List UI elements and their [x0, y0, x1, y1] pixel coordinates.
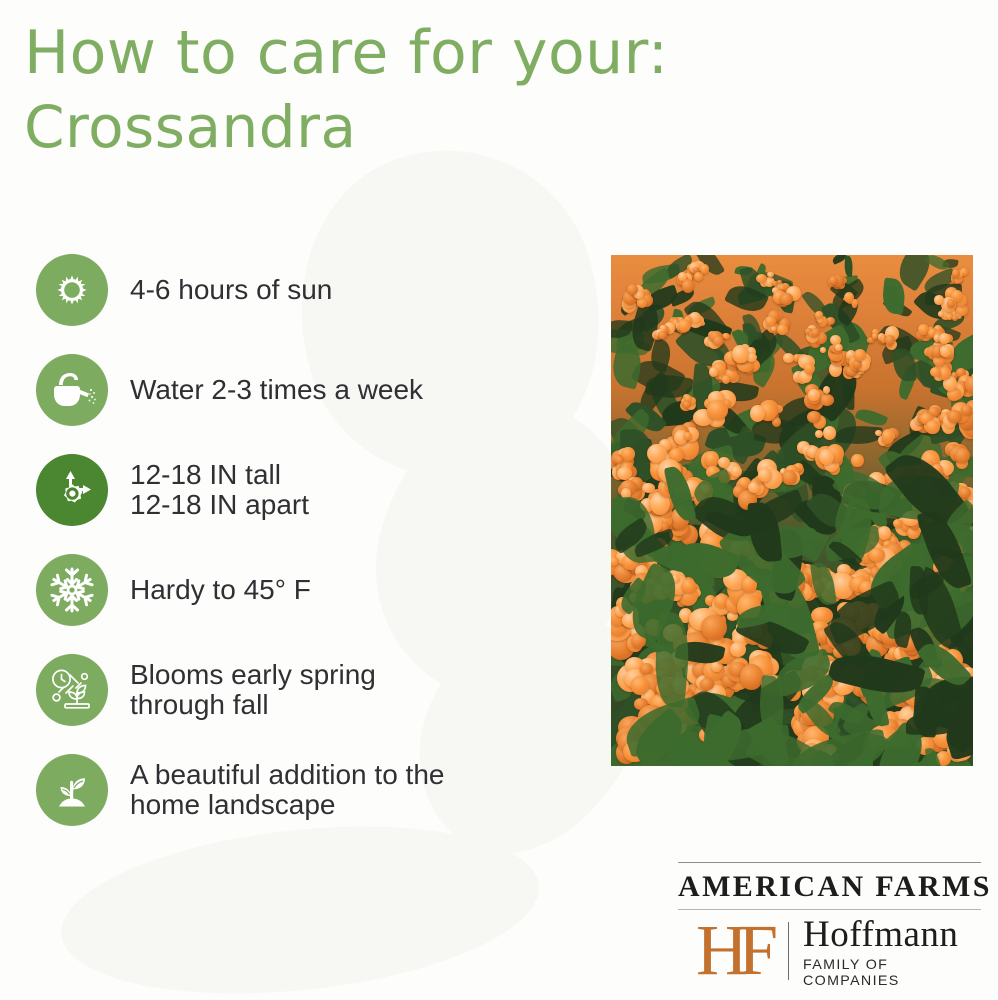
- logo-vertical-divider: [788, 922, 789, 980]
- bloom-clock-icon: [46, 664, 98, 716]
- sun-icon-badge: [36, 254, 108, 326]
- snowflake-icon: [47, 565, 97, 615]
- care-item-label: 12-18 IN tall 12-18 IN apart: [130, 460, 309, 520]
- care-item-spacing: 12-18 IN tall 12-18 IN apart: [36, 453, 576, 527]
- background-watermark-shape: [53, 805, 547, 1000]
- company-logo: AMERICAN FARMS HF Hoffmann FAMILY OF COM…: [678, 862, 981, 988]
- title-line-2: Crossandra: [24, 90, 844, 164]
- care-item-label: Blooms early spring through fall: [130, 660, 376, 720]
- care-item-bloom-season: Blooms early spring through fall: [36, 653, 576, 727]
- care-item-label: Hardy to 45° F: [130, 575, 311, 605]
- watering-can-icon: [47, 368, 97, 412]
- care-item-label: 4-6 hours of sun: [130, 275, 332, 305]
- page-title: How to care for your: Crossandra: [24, 16, 844, 164]
- care-item-sun: 4-6 hours of sun: [36, 253, 576, 327]
- hoffmann-text-block: Hoffmann FAMILY OF COMPANIES: [803, 916, 981, 988]
- watering-can-icon-badge: [36, 354, 108, 426]
- hoffmann-lockup: HF Hoffmann FAMILY OF COMPANIES: [678, 910, 981, 988]
- spacing-icon: [47, 465, 97, 515]
- care-item-label: Water 2-3 times a week: [130, 375, 423, 405]
- sun-icon: [48, 266, 96, 314]
- care-item-hardiness: Hardy to 45° F: [36, 553, 576, 627]
- care-item-landscape: A beautiful addition to the home landsca…: [36, 753, 576, 827]
- brand-tagline: FAMILY OF COMPANIES: [803, 956, 985, 988]
- care-item-water: Water 2-3 times a week: [36, 353, 576, 427]
- title-line-1: How to care for your:: [24, 16, 844, 90]
- bloom-clock-icon-badge: [36, 654, 108, 726]
- brand-name-american-farms: AMERICAN FARMS: [678, 863, 981, 909]
- plant-photo: [611, 255, 973, 766]
- seedling-icon-badge: [36, 754, 108, 826]
- care-instructions-list: 4-6 hours of sun: [36, 253, 576, 827]
- spacing-icon-badge: [36, 454, 108, 526]
- hf-monogram-icon: HF: [678, 916, 784, 984]
- snowflake-icon-badge: [36, 554, 108, 626]
- infographic-card: How to care for your: Crossandra: [0, 0, 998, 1000]
- brand-name-hoffmann: Hoffmann: [803, 916, 981, 954]
- seedling-icon: [47, 765, 97, 815]
- care-item-label: A beautiful addition to the home landsca…: [130, 760, 444, 820]
